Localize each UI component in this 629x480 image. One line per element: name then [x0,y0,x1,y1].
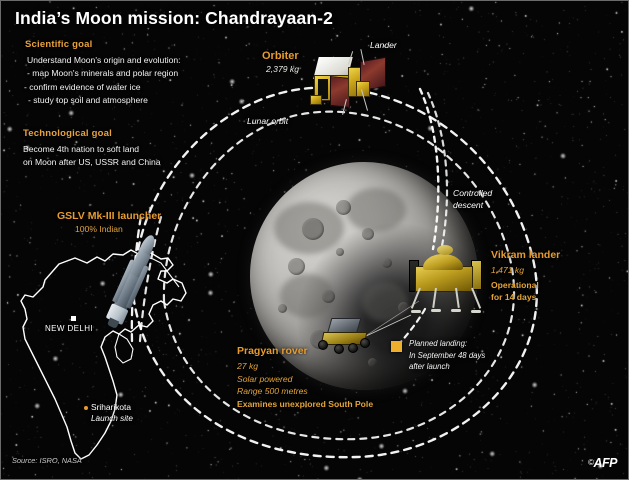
orbiter-label: Orbiter [262,50,299,62]
technological-goal-heading: Technological goal [23,128,161,139]
planned-landing-marker-icon [391,341,402,352]
scientific-goal-line-2: - map Moon's minerals and polar region [27,67,181,80]
vikram-label-block: Vikram lander 1,471 kg Operational for 1… [491,249,560,304]
controlled-descent-line-1: Controlled [453,187,492,199]
sriharikota-name: Sriharikota [91,401,133,413]
pragyan-note: Examines unexplored South Pole [237,398,373,411]
new-delhi-marker-icon [71,316,76,321]
vikram-mass: 1,471 kg [491,264,560,277]
orbiter-lander-stack-graphic [304,51,400,115]
sriharikota-label-block: Sriharikota Launch site [91,401,133,426]
launcher-label-block: GSLV Mk-III launcher 100% Indian [57,210,161,234]
scientific-goal-heading: Scientific goal [25,39,181,50]
source-credit: Source: ISRO, NASA [12,456,82,465]
sriharikota-marker-icon [84,406,88,410]
vikram-lander-graphic [409,244,485,316]
pragyan-power: Solar powered [237,373,373,386]
page-title: India’s Moon mission: Chandrayaan-2 [15,8,333,29]
controlled-descent-label: Controlled descent [453,187,492,212]
orbiter-label-block: Orbiter 2,379 kg [262,50,299,74]
launcher-sub: 100% Indian [75,224,161,234]
controlled-descent-line-2: descent [453,199,492,211]
planned-landing-block: Planned landing: In September 48 days af… [409,338,485,373]
scientific-goal-line-4: - study top soil and atmosphere [28,94,181,107]
lunar-orbit-label: Lunar orbit [247,115,288,127]
vikram-operational-line-1: Operational [491,279,560,292]
infographic-root: India’s Moon mission: Chandrayaan-2 Scie… [0,0,629,480]
pragyan-label: Pragyan rover [237,345,373,357]
technological-goal-block: Technological goal Become 4th nation to … [23,128,161,170]
sriharikota-sub: Launch site [91,413,133,425]
pragyan-range: Range 500 metres [237,385,373,398]
technological-goal-line-2: on Moon after US, USSR and China [23,156,161,169]
new-delhi-label: NEW DELHI [45,324,93,333]
scientific-goal-line-1: Understand Moon's origin and evolution: [27,54,181,67]
vikram-label: Vikram lander [491,249,560,261]
pragyan-mass: 27 kg [237,360,373,373]
planned-landing-line-2: In September 48 days [409,350,485,362]
planned-landing-line-1: Planned landing: [409,338,485,350]
scientific-goal-block: Scientific goal Understand Moon's origin… [25,39,181,108]
lander-label: Lander [370,39,397,51]
technological-goal-line-1: Become 4th nation to soft land [23,143,161,156]
scientific-goal-line-3: - confirm evidence of water ice [24,81,181,94]
afp-logo-text: AFP [594,456,618,470]
launcher-heading: GSLV Mk-III launcher [57,210,161,222]
pragyan-label-block: Pragyan rover 27 kg Solar powered Range … [237,345,373,410]
orbiter-mass: 2,379 kg [266,64,299,74]
vikram-operational-line-2: for 14 days [491,291,560,304]
planned-landing-line-3: after launch [409,361,485,373]
afp-logo: ©AFP [588,456,617,470]
